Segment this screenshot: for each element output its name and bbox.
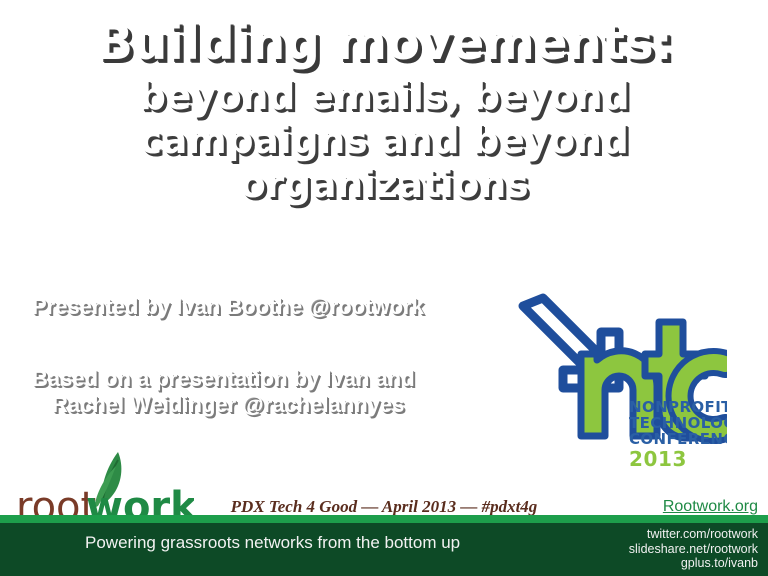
green-divider-stripe bbox=[0, 515, 768, 523]
title-block: Building movements: beyond emails, beyon… bbox=[0, 14, 768, 206]
presentation-slide: Building movements: beyond emails, beyon… bbox=[0, 0, 768, 576]
credit-based-on-2: Rachel Weidinger @rachelannyes bbox=[52, 392, 522, 418]
page-title: Building movements: bbox=[0, 14, 768, 72]
credit-presenter: Presented by Ivan Boothe @rootwork bbox=[32, 294, 522, 320]
footer-link-twitter[interactable]: twitter.com/rootwork bbox=[629, 527, 758, 542]
footer-social-links: twitter.com/rootwork slideshare.net/root… bbox=[629, 527, 758, 571]
footer-tagline: Powering grassroots networks from the bo… bbox=[85, 533, 460, 553]
ntc-year: 2013 bbox=[629, 447, 687, 471]
footer-link-slideshare[interactable]: slideshare.net/rootwork bbox=[629, 542, 758, 557]
page-subtitle: beyond emails, beyond campaigns and beyo… bbox=[0, 74, 768, 206]
rootwork-org-link[interactable]: Rootwork.org bbox=[663, 498, 758, 516]
ntc-line-conference: CONFERENCE bbox=[629, 430, 727, 448]
credit-spacer bbox=[22, 320, 522, 366]
credits-block: Presented by Ivan Boothe @rootwork Based… bbox=[22, 294, 522, 418]
event-line: PDX Tech 4 Good — April 2013 — #pdxt4g bbox=[0, 497, 768, 517]
ntc-conference-logo: NONPROFIT TECHNOLOGY CONFERENCE 2013 bbox=[509, 292, 727, 482]
footer-link-gplus[interactable]: gplus.to/ivanb bbox=[629, 556, 758, 571]
credit-based-on-1: Based on a presentation by Ivan and bbox=[32, 366, 522, 392]
